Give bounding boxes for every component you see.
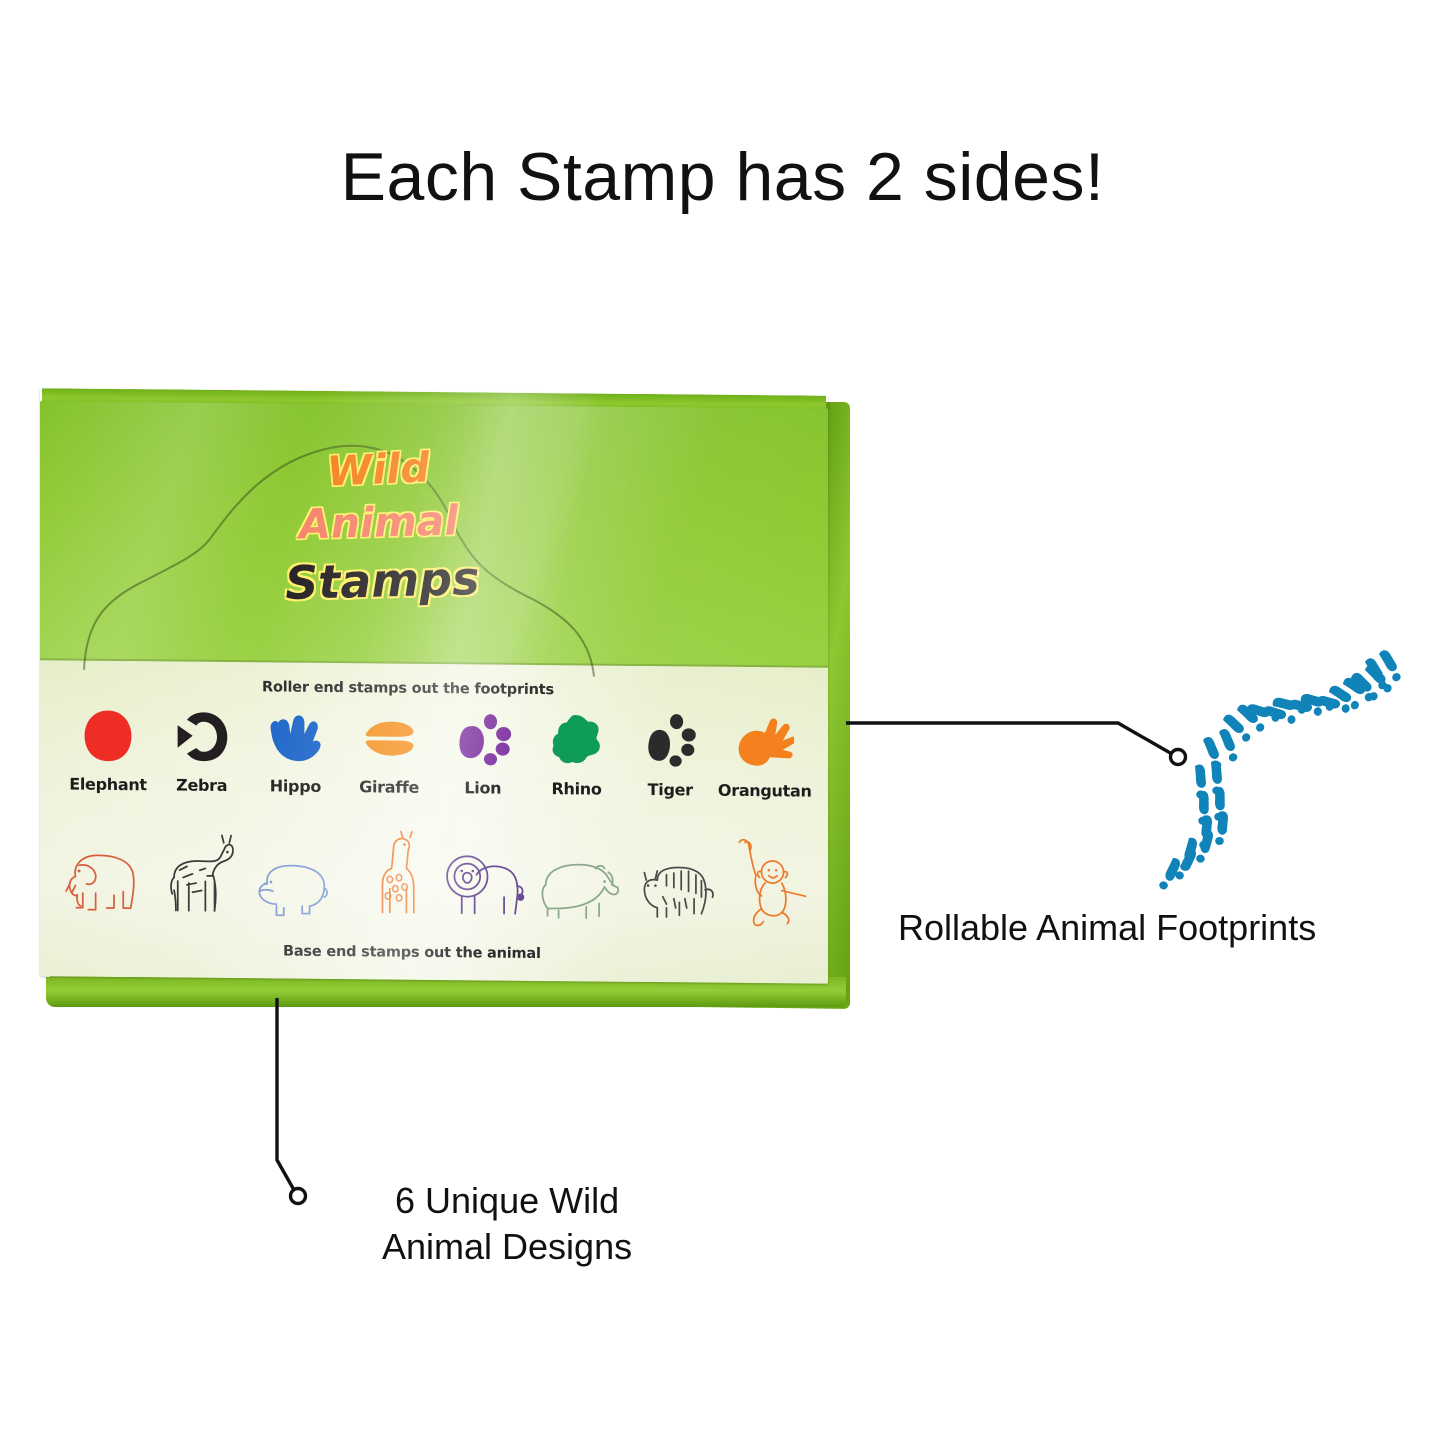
orangutan-line-art-icon [720, 823, 814, 932]
footprint-stamp-row: ElephantZebraHippoGiraffeLionRhinoTigerO… [62, 702, 810, 800]
orangutan-handprint-icon [718, 709, 810, 776]
stamp-label: Elephant [62, 774, 154, 794]
stamp-label: Tiger [624, 780, 716, 800]
rhino-line-art-icon [530, 821, 624, 930]
giraffe-line-art-icon [341, 819, 435, 928]
zebra-hoofprint-icon [156, 703, 248, 770]
callout-unique-designs-line2: Animal Designs [382, 1224, 632, 1270]
stamp-print-orangutan: Orangutan [718, 709, 810, 801]
lion-line-art-icon [435, 820, 529, 929]
hippo-line-art-icon [246, 818, 340, 927]
stamp-print-elephant: Elephant [62, 702, 154, 794]
footprint-trail-icon [1155, 640, 1425, 890]
caption-roller-end: Roller end stamps out the footprints [262, 679, 554, 698]
callout-unique-designs-line1: 6 Unique Wild [382, 1178, 632, 1224]
stamp-print-hippo: Hippo [249, 704, 341, 796]
stamp-print-rhino: Rhino [531, 707, 623, 799]
stamp-label: Hippo [249, 776, 341, 796]
callout-rollable-footprints: Rollable Animal Footprints [898, 905, 1316, 951]
hippo-footprint-icon [249, 704, 341, 771]
zebra-line-art-icon [151, 817, 245, 926]
stamp-print-giraffe: Giraffe [343, 705, 435, 797]
stamp-print-zebra: Zebra [156, 703, 248, 795]
lion-pawprint-icon [437, 706, 529, 773]
stamp-print-lion: Lion [437, 706, 529, 798]
animal-lineart-row [56, 816, 814, 931]
page-title: Each Stamp has 2 sides! [0, 138, 1445, 216]
callout-unique-designs: 6 Unique Wild Animal Designs [382, 1178, 632, 1270]
giraffe-hoofprint-icon [343, 705, 435, 772]
elephant-line-art-icon [56, 816, 150, 925]
tiger-line-art-icon [625, 822, 719, 931]
stamp-print-tiger: Tiger [624, 708, 716, 800]
stamp-label: Rhino [531, 779, 623, 799]
tiger-pawprint-icon [624, 708, 716, 775]
brand-line-animal: Animal [298, 500, 459, 545]
brand-title: Wild Animal Stamps [285, 449, 585, 606]
caption-base-end: Base end stamps out the animal [283, 944, 541, 962]
stamp-label: Giraffe [343, 777, 435, 797]
stamp-label: Zebra [156, 775, 248, 795]
elephant-footprint-icon [62, 702, 154, 769]
stamp-label: Lion [437, 778, 529, 798]
brand-line-wild: Wild [326, 447, 431, 492]
box-lid: Wild Animal Stamps Roller end stamps out… [40, 388, 828, 984]
rhino-footprint-icon [531, 707, 623, 774]
brand-line-stamps: Stamps [284, 555, 480, 606]
product-box-image: Wild Animal Stamps Roller end stamps out… [40, 392, 850, 1007]
stamp-label: Orangutan [718, 781, 810, 801]
